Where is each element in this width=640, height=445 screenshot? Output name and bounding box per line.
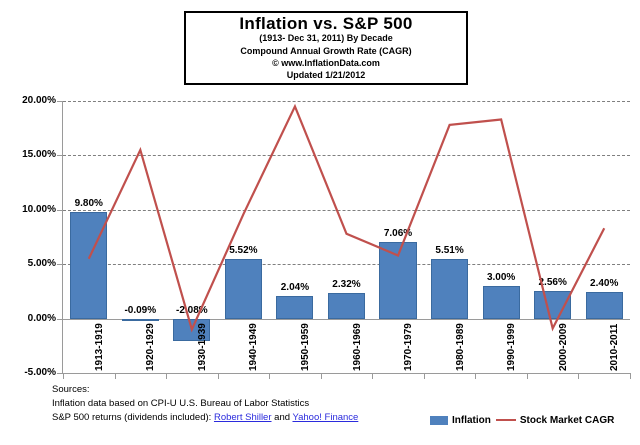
y-axis-tick-label: -5.00% [0, 367, 56, 378]
x-axis-label-1970-1979: 1970-1979 [403, 323, 414, 371]
legend-label-inflation: Inflation [452, 415, 491, 426]
x-axis-tick-mark [424, 373, 425, 379]
x-axis-tick-mark [321, 373, 322, 379]
legend-item-inflation[interactable]: Inflation [430, 415, 491, 426]
y-axis-tick-label: 0.00% [0, 313, 56, 324]
x-axis-line [62, 373, 630, 374]
x-axis-tick-mark [630, 373, 631, 379]
x-axis-label-1950-1959: 1950-1959 [300, 323, 311, 371]
legend-item-stock-market-cagr[interactable]: Stock Market CAGR [496, 415, 614, 426]
x-axis-label-1940-1949: 1940-1949 [248, 323, 259, 371]
y-axis-tick-mark [57, 210, 62, 211]
y-axis-tick-label: 5.00% [0, 258, 56, 269]
link-robert-shiller[interactable]: Robert Shiller [214, 412, 272, 423]
y-axis-tick-mark [57, 264, 62, 265]
sources-sp500: S&P 500 returns (dividends included): Ro… [52, 411, 472, 425]
legend-label-stock-market-cagr: Stock Market CAGR [520, 415, 614, 426]
sources-footer: Sources: Inflation data based on CPI-U U… [52, 383, 472, 424]
title-subtitle-cagr: Compound Annual Growth Rate (CAGR) [240, 46, 411, 57]
x-axis-label-1930-1939: 1930-1939 [197, 323, 208, 371]
x-axis-label-2000-2009: 2000-2009 [558, 323, 569, 371]
x-axis-tick-mark [578, 373, 579, 379]
title-copyright: © www.InflationData.com [272, 58, 380, 69]
sources-sp500-mid: and [272, 412, 293, 423]
x-axis-label-2010-2011: 2010-2011 [609, 324, 620, 371]
y-axis-tick-label: 20.00% [0, 95, 56, 106]
x-axis-label-1920-1929: 1920-1929 [145, 323, 156, 371]
title-subtitle-range: (1913- Dec 31, 2011) By Decade [259, 33, 393, 44]
x-axis-tick-mark [527, 373, 528, 379]
x-axis-tick-mark [218, 373, 219, 379]
chart-legend: Inflation Stock Market CAGR [430, 413, 614, 427]
sources-inflation: Inflation data based on CPI-U U.S. Burea… [52, 397, 472, 411]
stock-market-cagr-line[interactable] [89, 106, 604, 329]
y-axis-tick-label: 10.00% [0, 204, 56, 215]
x-axis-tick-mark [63, 373, 64, 379]
x-axis-tick-mark [475, 373, 476, 379]
y-axis-tick-label: 15.00% [0, 149, 56, 160]
link-yahoo-finance[interactable]: Yahoo! Finance [292, 412, 358, 423]
x-axis-label-1913-1919: 1913-1919 [94, 323, 105, 371]
x-axis-label-1980-1989: 1980-1989 [455, 323, 466, 371]
x-axis-label-1990-1999: 1990-1999 [506, 323, 517, 371]
y-axis-tick-mark [57, 155, 62, 156]
sources-heading: Sources: [52, 383, 472, 397]
sources-sp500-prefix: S&P 500 returns (dividends included): [52, 412, 214, 423]
x-axis-label-1960-1969: 1960-1969 [352, 323, 363, 371]
legend-bar-swatch-icon [430, 416, 448, 425]
y-axis-tick-mark [57, 101, 62, 102]
page-title: Inflation vs. S&P 500 [239, 15, 412, 33]
x-axis-tick-mark [115, 373, 116, 379]
x-axis-tick-mark [269, 373, 270, 379]
y-axis-tick-mark [57, 319, 62, 320]
x-axis-tick-mark [372, 373, 373, 379]
chart-title-box: Inflation vs. S&P 500 (1913- Dec 31, 201… [184, 11, 468, 85]
x-axis-tick-mark [166, 373, 167, 379]
title-updated: Updated 1/21/2012 [287, 70, 366, 81]
legend-line-swatch-icon [496, 419, 516, 421]
chart-root: Inflation vs. S&P 500 (1913- Dec 31, 201… [0, 0, 640, 445]
